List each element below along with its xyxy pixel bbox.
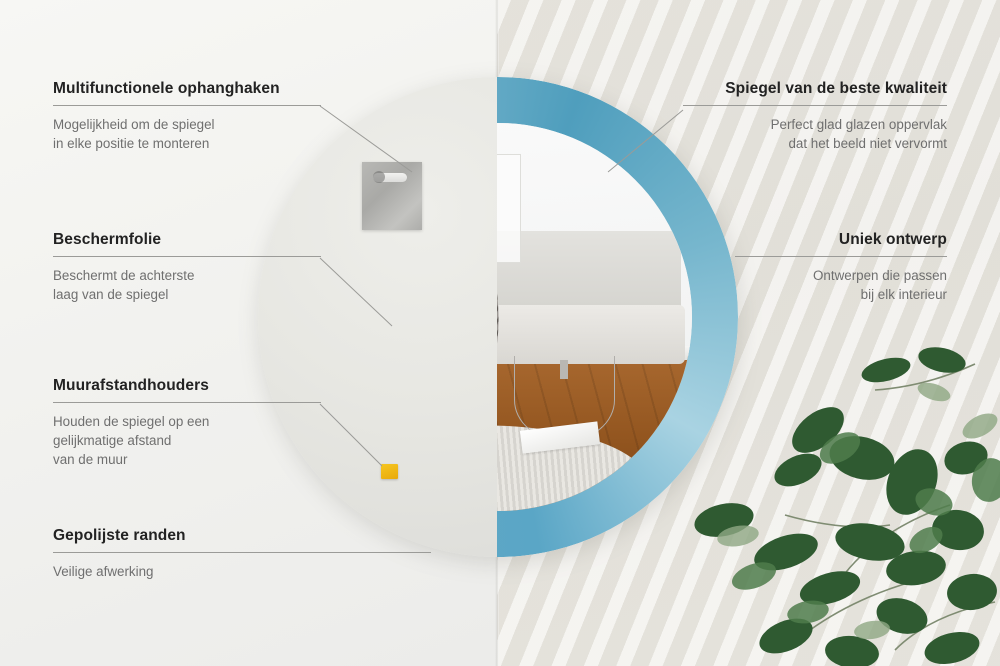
callout-rule [735,256,947,257]
callout-spiegel-van-de-beste-kwaliteit: Spiegel van de beste kwaliteit Perfect g… [683,80,947,153]
callout-description: Ontwerpen die passen bij elk interieur [735,266,947,304]
callout-rule [683,105,947,106]
decorative-plant [690,330,1000,666]
callout-rule [53,402,321,403]
callout-title: Beschermfolie [53,231,321,249]
callout-multifunctionele-ophanghaken: Multifunctionele ophanghaken Mogelijkhei… [53,80,321,153]
callout-title: Uniek ontwerp [735,231,947,249]
callout-description: Perfect glad glazen oppervlak dat het be… [683,115,947,153]
keyhole-slot-icon [373,173,407,182]
callout-gepolijste-randen: Gepolijste randen Veilige afwerking [53,527,431,581]
hanging-bracket [362,162,422,230]
callout-title: Multifunctionele ophanghaken [53,80,321,98]
callout-description: Veilige afwerking [53,562,431,581]
callout-beschermfolie: Beschermfolie Beschermt de achterste laa… [53,231,321,304]
callout-description: Houden de spiegel op een gelijkmatige af… [53,412,321,469]
callout-description: Mogelijkheid om de spiegel in elke posit… [53,115,321,153]
product-mirror [258,77,738,557]
callout-uniek-ontwerp: Uniek ontwerp Ontwerpen die passen bij e… [735,231,947,304]
wall-spacer-marker [381,464,398,479]
callout-title: Muurafstandhouders [53,377,321,395]
callout-rule [53,256,321,257]
callout-title: Spiegel van de beste kwaliteit [683,80,947,98]
callout-rule [53,552,431,553]
callout-title: Gepolijste randen [53,527,431,545]
callout-description: Beschermt de achterste laag van de spieg… [53,266,321,304]
callout-muurafstandhouders: Muurafstandhouders Houden de spiegel op … [53,377,321,469]
callout-rule [53,105,321,106]
infographic-canvas: Multifunctionele ophanghaken Mogelijkhei… [0,0,1000,666]
